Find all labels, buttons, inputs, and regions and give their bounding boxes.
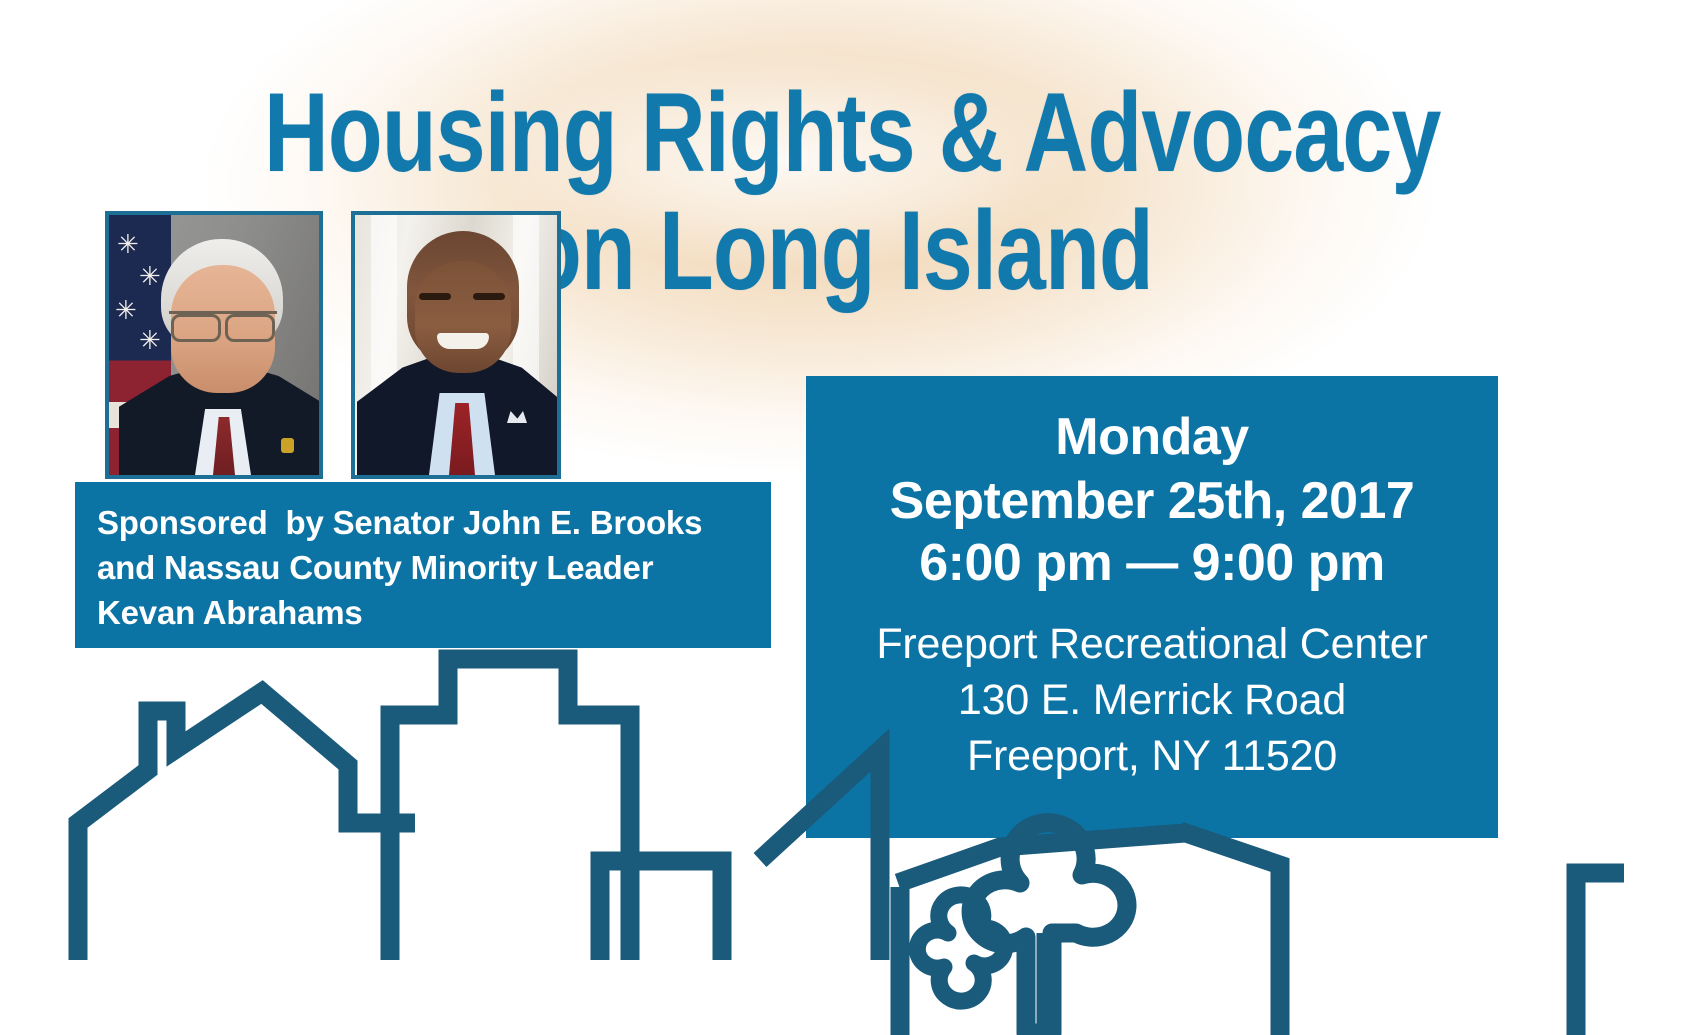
event-details-panel: Monday September 25th, 2017 6:00 pm — 9:… bbox=[806, 376, 1498, 838]
house-icon bbox=[78, 692, 415, 960]
portrait-image-brooks: ✳ ✳ ✳ ✳ bbox=[109, 215, 319, 475]
portrait-eyebrow bbox=[419, 293, 451, 300]
flag-star-icon: ✳ bbox=[139, 263, 161, 289]
right-building-icon bbox=[1576, 873, 1624, 1035]
low-building-icon bbox=[600, 861, 722, 960]
portrait-eyebrow bbox=[473, 293, 505, 300]
event-time: 6:00 pm — 9:00 pm bbox=[806, 532, 1498, 594]
venue-city: Freeport, NY 11520 bbox=[806, 728, 1498, 784]
right-wall-icon bbox=[1180, 831, 1280, 1035]
pavilion-roofline bbox=[898, 833, 1185, 883]
avatar-senator-john-e-brooks: ✳ ✳ ✳ ✳ bbox=[105, 211, 323, 479]
lapel-pin-icon bbox=[281, 438, 294, 453]
event-flyer: Housing Rights & Advocacy on Long Island… bbox=[0, 0, 1682, 1035]
flag-star-icon: ✳ bbox=[117, 231, 139, 257]
portrait-smile bbox=[437, 333, 489, 349]
portrait-image-abrahams bbox=[355, 215, 557, 475]
venue-street: 130 E. Merrick Road bbox=[806, 672, 1498, 728]
apartment-building-icon bbox=[390, 659, 630, 960]
avatar-kevan-abrahams bbox=[351, 211, 561, 479]
venue-name: Freeport Recreational Center bbox=[806, 616, 1498, 672]
event-day: Monday bbox=[806, 406, 1498, 468]
shrub-icon bbox=[917, 895, 1004, 1001]
sponsor-panel: Sponsored by Senator John E. Brooks and … bbox=[75, 482, 771, 648]
sponsor-line-1: Sponsored by Senator John E. Brooks bbox=[97, 500, 771, 545]
flag-star-icon: ✳ bbox=[115, 297, 137, 323]
event-date: September 25th, 2017 bbox=[806, 470, 1498, 532]
sponsor-line-3: Kevan Abrahams bbox=[97, 590, 771, 635]
flag-star-icon: ✳ bbox=[139, 327, 161, 353]
sponsor-line-2: and Nassau County Minority Leader bbox=[97, 545, 771, 590]
portrait-face bbox=[415, 261, 511, 373]
eyeglasses-icon bbox=[169, 311, 277, 338]
tree-icon bbox=[971, 823, 1127, 1033]
title-line-1: Housing Rights & Advocacy bbox=[264, 78, 1416, 188]
